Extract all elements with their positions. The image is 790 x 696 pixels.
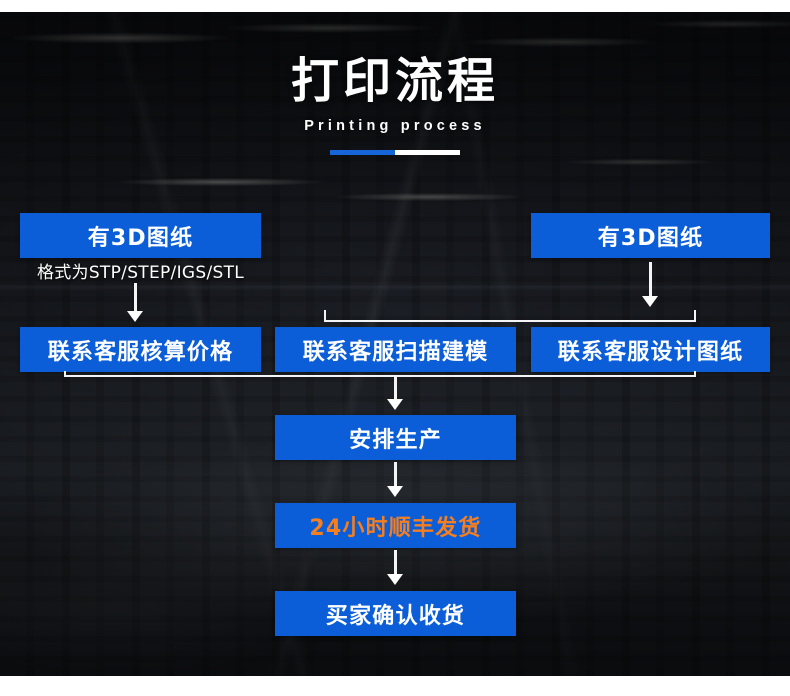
flow-step-contact-service-design: 联系客服设计图纸 [531, 327, 770, 372]
bracket-upper-horizontal [324, 320, 696, 322]
arrow-down-icon-production [387, 399, 403, 410]
connector-right-vertical [649, 262, 652, 298]
connector-to-confirmation [394, 550, 397, 576]
flow-step-buyer-confirm-receipt: 买家确认收货 [275, 591, 516, 636]
arrow-down-icon-shipping [387, 486, 403, 497]
flow-step-have-3d-drawing-right: 有3D图纸 [531, 213, 770, 258]
flow-step-arrange-production: 安排生产 [275, 415, 516, 460]
flow-step-contact-service-scan: 联系客服扫描建模 [275, 327, 516, 372]
bracket-upper-left-stub [324, 310, 326, 322]
connector-to-shipping [394, 462, 397, 488]
printing-process-banner: 打印流程 Printing process 有3D图纸 有3D图纸 格式为STP… [0, 0, 790, 696]
flow-step-24h-sf-express-shipping: 24小时顺丰发货 [275, 503, 516, 548]
connector-left-vertical [134, 283, 137, 313]
file-format-caption: 格式为STP/STEP/IGS/STL [10, 258, 271, 283]
arrow-down-icon-confirmation [387, 574, 403, 585]
flow-step-contact-service-quote: 联系客服核算价格 [20, 327, 261, 372]
bracket-lower-horizontal [64, 375, 696, 377]
arrow-down-icon-left [127, 311, 143, 322]
bracket-lower-right-stub [694, 371, 696, 377]
bracket-lower-left-stub [64, 371, 66, 377]
process-flowchart: 有3D图纸 有3D图纸 格式为STP/STEP/IGS/STL 联系客服核算价格… [0, 0, 790, 696]
bracket-upper-right-stub [694, 310, 696, 322]
connector-to-production [394, 377, 397, 401]
arrow-down-icon-right [642, 296, 658, 307]
flow-step-have-3d-drawing-left: 有3D图纸 [20, 213, 261, 258]
